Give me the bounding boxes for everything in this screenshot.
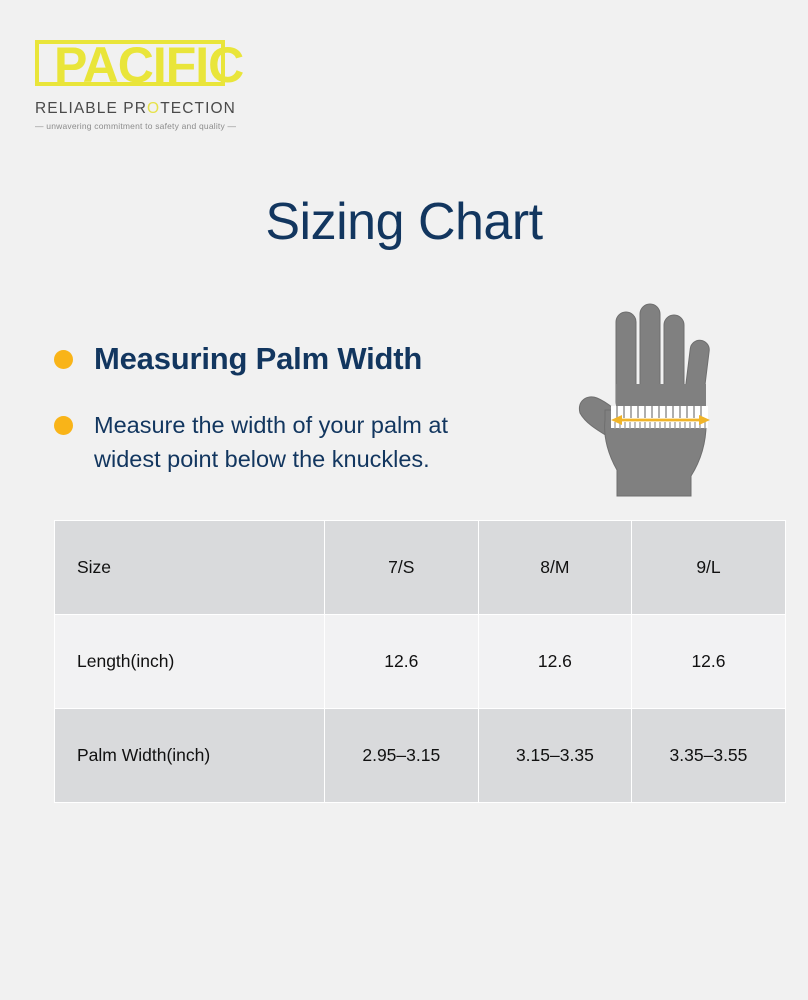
table-header-cell-size: Size [55,521,325,615]
brand-logo: PACIFIC RELIABLE PROTECTION — unwavering… [35,36,265,131]
palm-width-value-medium: 3.15–3.35 [478,709,632,803]
table-row-palm-width: Palm Width(inch) 2.95–3.15 3.15–3.35 3.3… [55,709,786,803]
sizing-table: Size 7/S 8/M 9/L Length(inch) 12.6 12.6 … [54,520,786,803]
logo-mark: PACIFIC [35,36,233,94]
logo-tagline-highlight-o: O [147,100,160,117]
row-label-length: Length(inch) [55,615,325,709]
logo-tagline-part-a: RELIABLE PR [35,100,147,117]
instruction-heading-text: Measuring Palm Width [94,338,422,380]
row-label-palm-width: Palm Width(inch) [55,709,325,803]
hand-measurement-illustration [575,298,720,503]
bullet-dot-icon [54,416,73,435]
instructions-section: Measuring Palm Width Measure the width o… [54,338,554,476]
logo-tagline-part-b: TECTION [160,100,236,117]
bullet-dot-icon [54,350,73,369]
palm-width-value-small: 2.95–3.15 [325,709,479,803]
palm-width-value-large: 3.35–3.55 [632,709,786,803]
length-value-medium: 12.6 [478,615,632,709]
logo-tagline-secondary: — unwavering commitment to safety and qu… [35,121,265,131]
table-header-cell-small: 7/S [325,521,479,615]
table-header-cell-medium: 8/M [478,521,632,615]
logo-wordmark-text: PACIFIC [54,36,243,94]
logo-tagline-primary: RELIABLE PROTECTION [35,100,265,118]
page-title: Sizing Chart [0,192,808,252]
instruction-body-text: Measure the width of your palm at widest… [94,408,514,476]
length-value-small: 12.6 [325,615,479,709]
table-header-cell-large: 9/L [632,521,786,615]
table-header-row: Size 7/S 8/M 9/L [55,521,786,615]
hand-silhouette [579,304,710,496]
instruction-item-heading: Measuring Palm Width [54,338,554,380]
length-value-large: 12.6 [632,615,786,709]
measuring-tape [611,406,708,429]
instruction-item-body: Measure the width of your palm at widest… [54,408,554,476]
table-row-length: Length(inch) 12.6 12.6 12.6 [55,615,786,709]
